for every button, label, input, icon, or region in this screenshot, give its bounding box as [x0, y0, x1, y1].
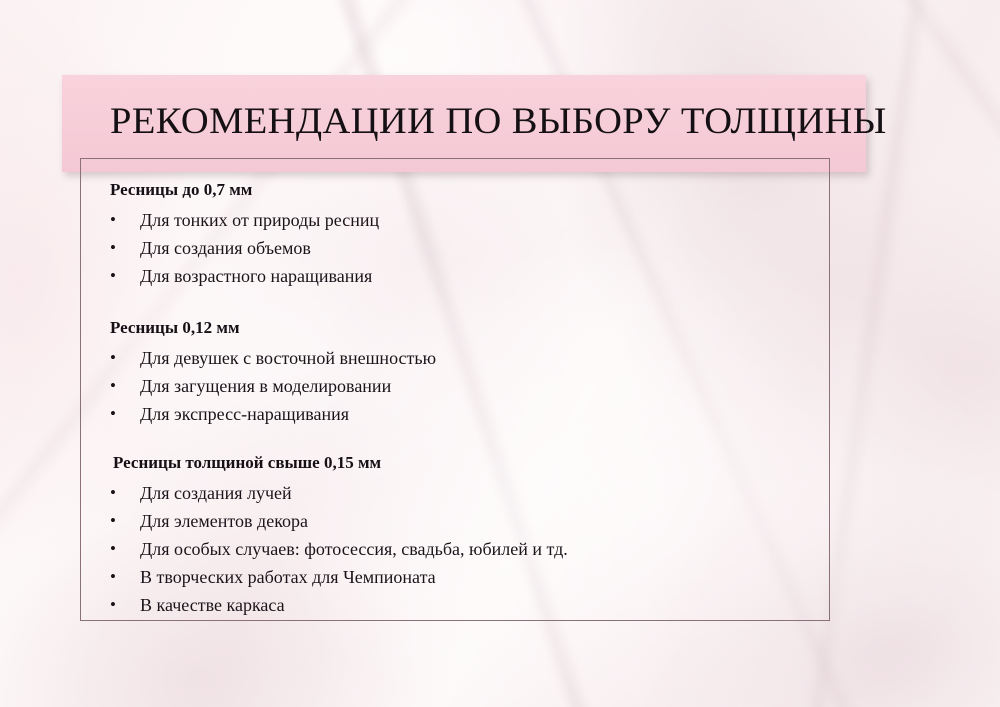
bullet-icon: •: [110, 507, 120, 535]
list-item-text: Для создания лучей: [80, 479, 830, 507]
presentation-slide: РЕКОМЕНДАЦИИ ПО ВЫБОРУ ТОЛЩИНЫ Ресницы д…: [0, 0, 1000, 707]
bullet-icon: •: [110, 535, 120, 563]
bullet-icon: •: [110, 206, 120, 234]
list-item: • Для девушек с восточной внешностью: [80, 344, 830, 372]
list-item-text: В качестве каркаса: [80, 591, 830, 619]
list-item: • Для создания объемов: [80, 234, 830, 262]
list-item-text: Для тонких от природы ресниц: [80, 206, 830, 234]
bullet-icon: •: [110, 262, 120, 290]
bullet-icon: •: [110, 372, 120, 400]
bullet-icon: •: [110, 563, 120, 591]
list-item-text: Для особых случаев: фотосессия, свадьба,…: [80, 535, 830, 563]
list-item: • Для возрастного наращивания: [80, 262, 830, 290]
list-item: • В качестве каркаса: [80, 591, 830, 619]
list-item: • Для элементов декора: [80, 507, 830, 535]
bullet-icon: •: [110, 591, 120, 619]
section-thickness-0-12: Ресницы 0,12 мм • Для девушек с восточно…: [80, 316, 830, 428]
list-item: • Для создания лучей: [80, 479, 830, 507]
section-heading: Ресницы до 0,7 мм: [80, 178, 830, 201]
list-item: • Для экспресс-наращивания: [80, 400, 830, 428]
list-item-text: Для загущения в моделировании: [80, 372, 830, 400]
slide-title: РЕКОМЕНДАЦИИ ПО ВЫБОРУ ТОЛЩИНЫ: [110, 99, 880, 145]
list-item: • В творческих работах для Чемпионата: [80, 563, 830, 591]
section-heading: Ресницы толщиной свыше 0,15 мм: [80, 451, 830, 474]
list-item-text: Для экспресс-наращивания: [80, 400, 830, 428]
section-thickness-0-15: Ресницы толщиной свыше 0,15 мм • Для соз…: [80, 451, 830, 619]
section-thickness-0-7: Ресницы до 0,7 мм • Для тонких от природ…: [80, 178, 830, 290]
list-item-text: Для создания объемов: [80, 234, 830, 262]
bullet-icon: •: [110, 479, 120, 507]
bullet-icon: •: [110, 400, 120, 428]
content-body: Ресницы до 0,7 мм • Для тонких от природ…: [80, 158, 830, 621]
list-item-text: Для девушек с восточной внешностью: [80, 344, 830, 372]
bullet-icon: •: [110, 344, 120, 372]
section-heading: Ресницы 0,12 мм: [80, 316, 830, 339]
bullet-icon: •: [110, 234, 120, 262]
bullet-list: • Для девушек с восточной внешностью • Д…: [80, 344, 830, 428]
list-item-text: В творческих работах для Чемпионата: [80, 563, 830, 591]
bullet-list: • Для создания лучей • Для элементов дек…: [80, 479, 830, 619]
list-item: • Для особых случаев: фотосессия, свадьб…: [80, 535, 830, 563]
bullet-list: • Для тонких от природы ресниц • Для соз…: [80, 206, 830, 290]
list-item-text: Для возрастного наращивания: [80, 262, 830, 290]
list-item-text: Для элементов декора: [80, 507, 830, 535]
list-item: • Для тонких от природы ресниц: [80, 206, 830, 234]
list-item: • Для загущения в моделировании: [80, 372, 830, 400]
